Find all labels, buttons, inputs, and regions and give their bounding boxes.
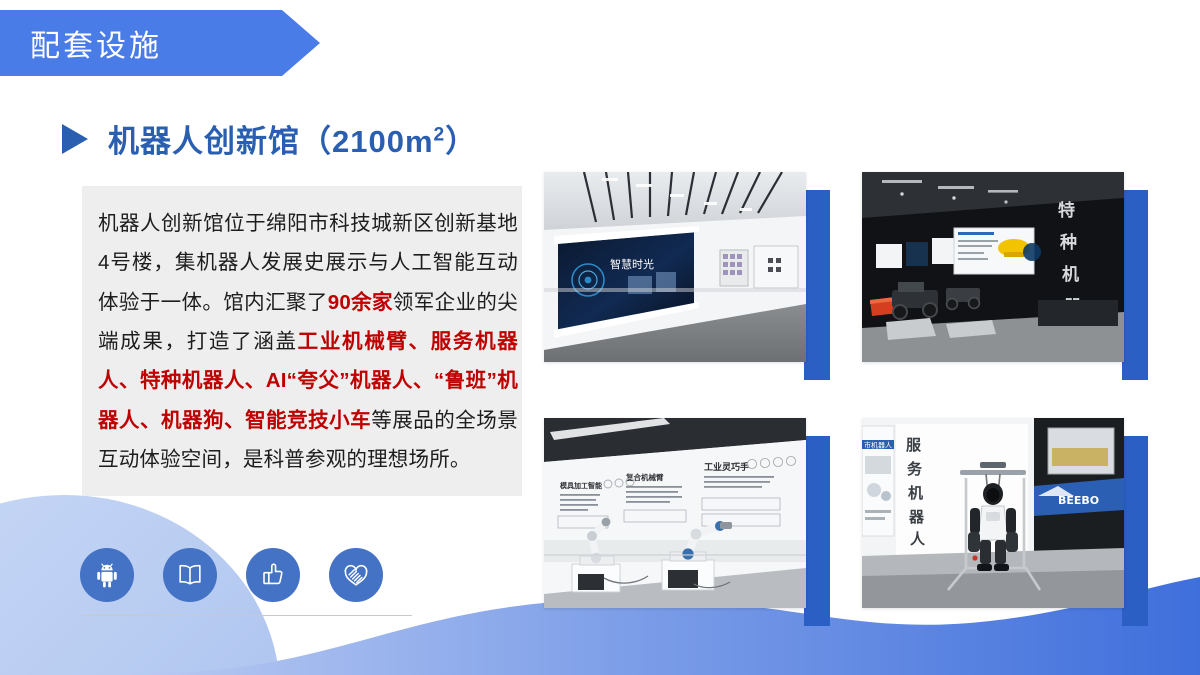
highlight-count: 90余家 [328,291,393,314]
photo-image: 市机器人 服务 机器人 BEEBO [862,418,1124,608]
header-banner: 配套设施 [0,10,320,76]
feature-icon-row [80,548,383,602]
section-title-main: 机器人创新馆（2100 [108,124,405,159]
description-text: 机器人创新馆位于绵阳市科技城新区创新基地4号楼，集机器人发展史展示与人工智能互动… [98,204,518,480]
svg-text:工业灵巧手: 工业灵巧手 [704,461,749,473]
section-divider [82,615,412,616]
triangle-right-icon [62,124,88,154]
photo-accent-bar [1122,190,1148,380]
photo-accent-bar [804,436,830,626]
open-book-icon[interactable] [163,548,217,602]
description-panel: 机器人创新馆位于绵阳市科技城新区创新基地4号楼，集机器人发展史展示与人工智能互动… [82,186,522,496]
photo-accent-bar [1122,436,1148,626]
photo-frame: 市机器人 服务 机器人 BEEBO [862,418,1124,608]
android-robot-icon[interactable] [80,548,134,602]
photo-image: 模具加工智能 复合机械臂 工业灵巧手 [544,418,806,608]
svg-text:人: 人 [910,530,926,548]
section-title-tail: ） [445,124,477,159]
banner-title: 配套设施 [30,21,162,65]
svg-text:模具加工智能: 模具加工智能 [560,481,602,490]
photo-image: 智慧时光 [544,172,806,362]
svg-text:市机器人: 市机器人 [864,441,892,450]
svg-text:智慧时光: 智慧时光 [610,257,654,271]
photo-service-robot[interactable]: 市机器人 服务 机器人 BEEBO [862,418,1124,608]
photo-special-robots[interactable]: 特种 机器 [862,172,1124,362]
section-heading: 机器人创新馆（2100m2） [62,116,477,161]
photo-industrial-arms[interactable]: 模具加工智能 复合机械臂 工业灵巧手 [544,418,806,608]
svg-text:器: 器 [908,508,925,526]
svg-text:务: 务 [907,460,923,478]
handshake-heart-icon[interactable] [329,548,383,602]
svg-text:种: 种 [1059,232,1077,253]
thumbs-up-icon[interactable] [246,548,300,602]
section-title-superscript: 2 [434,125,446,146]
photo-exhibition-hall[interactable]: 智慧时光 [544,172,806,362]
svg-text:机: 机 [1062,264,1079,285]
svg-text:复合机械臂: 复合机械臂 [625,472,664,482]
photo-accent-bar [804,190,830,380]
svg-text:特: 特 [1058,200,1075,221]
photo-frame: 特种 机器 [862,172,1124,362]
svg-text:服: 服 [906,436,922,454]
photo-frame: 智慧时光 [544,172,806,362]
photo-frame: 模具加工智能 复合机械臂 工业灵巧手 [544,418,806,608]
slide-canvas: 配套设施 机器人创新馆（2100m2） 机器人创新馆位于绵阳市科技城新区创新基地… [0,0,1200,675]
photo-image: 特种 机器 [862,172,1124,362]
svg-text:机: 机 [908,484,923,502]
page-title: 机器人创新馆（2100m2） [108,116,477,161]
section-title-unit: m [405,124,434,159]
